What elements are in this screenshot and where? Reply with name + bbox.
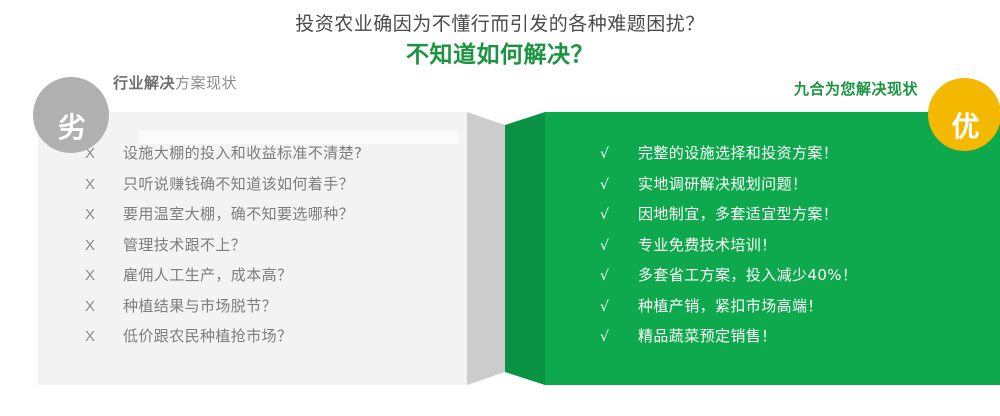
list-item: √因地制宜，多套适宜型方案！ <box>600 203 990 234</box>
list-item-label: 种植结果与市场脱节？ <box>123 295 277 316</box>
check-icon: √ <box>600 177 638 193</box>
list-item: X要用温室大棚，确不知要选哪种？ <box>85 203 465 234</box>
check-icon: √ <box>600 146 638 162</box>
list-item-label: 种植产销，紧扣市场高端！ <box>638 295 823 316</box>
left-subheader-strong: 行业解决 <box>113 74 175 92</box>
list-item: X种植结果与市场脱节？ <box>85 295 465 326</box>
cross-icon: X <box>85 237 123 254</box>
list-item: √种植产销，紧扣市场高端！ <box>600 295 990 326</box>
list-item-label: 专业免费技术培训！ <box>638 234 777 255</box>
list-item: X管理技术跟不上？ <box>85 234 465 265</box>
badge-superior: 优 <box>928 78 1000 151</box>
list-item-label: 设施大棚的投入和收益标准不清楚? <box>123 142 362 163</box>
list-item-label: 雇佣人工生产，成本高？ <box>123 264 292 285</box>
list-item: √完整的设施选择和投资方案！ <box>600 142 990 173</box>
badge-inferior: 劣 <box>33 77 109 153</box>
list-item-label: 实地调研解决规划问题！ <box>638 173 807 194</box>
headline-block: 投资农业确因为不懂行而引发的各种难题困扰？ 不知道如何解决？ <box>0 0 1000 71</box>
cross-icon: X <box>85 298 123 315</box>
list-item-label: 只听说赚钱确不知道该如何着手？ <box>123 173 354 194</box>
headline-question: 投资农业确因为不懂行而引发的各种难题困扰？ <box>0 10 1000 38</box>
cross-icon: X <box>85 145 123 162</box>
cross-icon: X <box>85 267 123 284</box>
list-item: X低价跟农民种植抢市场？ <box>85 325 465 356</box>
problems-list: X设施大棚的投入和收益标准不清楚? X只听说赚钱确不知道该如何着手？ X要用温室… <box>85 142 465 356</box>
check-icon: √ <box>600 207 638 223</box>
list-item-label: 低价跟农民种植抢市场？ <box>123 325 292 346</box>
headline-emphasis: 不知道如何解决？ <box>0 39 1000 71</box>
cross-icon: X <box>85 176 123 193</box>
left-subheader-rest: 方案现状 <box>175 74 237 92</box>
list-item: √精品蔬菜预定销售！ <box>600 325 990 356</box>
grey-fold-shape <box>467 112 505 385</box>
list-item-label: 要用温室大棚，确不知要选哪种？ <box>123 203 354 224</box>
list-item: X只听说赚钱确不知道该如何着手？ <box>85 173 465 204</box>
list-item: X设施大棚的投入和收益标准不清楚? <box>85 142 465 173</box>
list-item: √实地调研解决规划问题！ <box>600 173 990 204</box>
check-icon: √ <box>600 238 638 254</box>
list-item: √多套省工方案，投入减少40%！ <box>600 264 990 295</box>
list-item-label: 精品蔬菜预定销售！ <box>638 325 777 346</box>
badge-superior-label: 优 <box>951 105 979 145</box>
list-item-label: 管理技术跟不上？ <box>123 234 246 255</box>
list-item-label: 完整的设施选择和投资方案！ <box>638 142 838 163</box>
check-icon: √ <box>600 268 638 284</box>
list-item: X雇佣人工生产，成本高？ <box>85 264 465 295</box>
list-item-label: 因地制宜，多套适宜型方案！ <box>638 203 838 224</box>
badge-inferior-label: 劣 <box>58 106 86 146</box>
check-icon: √ <box>600 329 638 345</box>
green-fold-shape <box>505 112 545 385</box>
cross-icon: X <box>85 328 123 345</box>
list-item: √专业免费技术培训！ <box>600 234 990 265</box>
right-section-subheader: 九合为您解决现状 <box>794 78 918 99</box>
cross-icon: X <box>85 206 123 223</box>
solutions-list: √完整的设施选择和投资方案！ √实地调研解决规划问题！ √因地制宜，多套适宜型方… <box>600 142 990 356</box>
list-item-label: 多套省工方案，投入减少40%！ <box>638 264 857 285</box>
left-section-subheader: 行业解决方案现状 <box>113 72 237 93</box>
check-icon: √ <box>600 299 638 315</box>
